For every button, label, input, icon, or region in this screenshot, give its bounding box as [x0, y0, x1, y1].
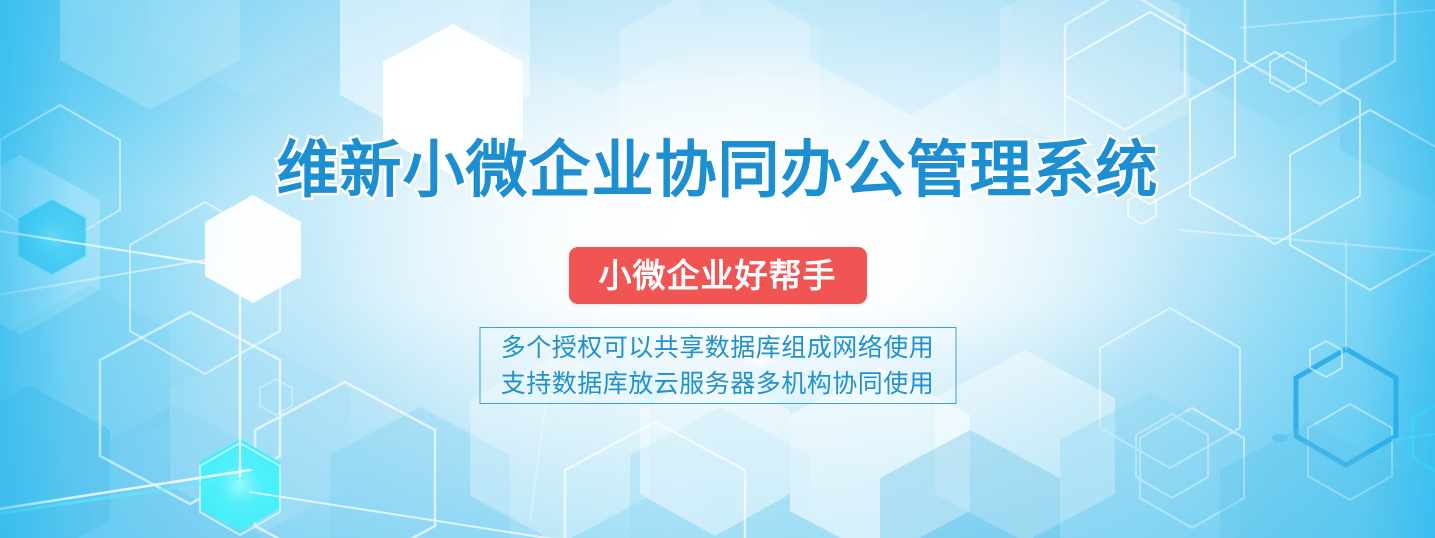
feature-info-line-1: 多个授权可以共享数据库组成网络使用 — [501, 330, 935, 366]
promo-banner: 维新小微企业协同办公管理系统 小微企业好帮手 多个授权可以共享数据库组成网络使用… — [0, 0, 1435, 538]
status-badge: 小微企业好帮手 — [569, 247, 867, 304]
feature-info-line-2: 支持数据库放云服务器多机构协同使用 — [501, 366, 935, 402]
banner-content: 维新小微企业协同办公管理系统 小微企业好帮手 多个授权可以共享数据库组成网络使用… — [0, 0, 1435, 538]
page-title: 维新小微企业协同办公管理系统 — [0, 139, 1435, 201]
feature-info-box: 多个授权可以共享数据库组成网络使用 支持数据库放云服务器多机构协同使用 — [479, 327, 956, 404]
status-badge-label: 小微企业好帮手 — [599, 259, 837, 292]
